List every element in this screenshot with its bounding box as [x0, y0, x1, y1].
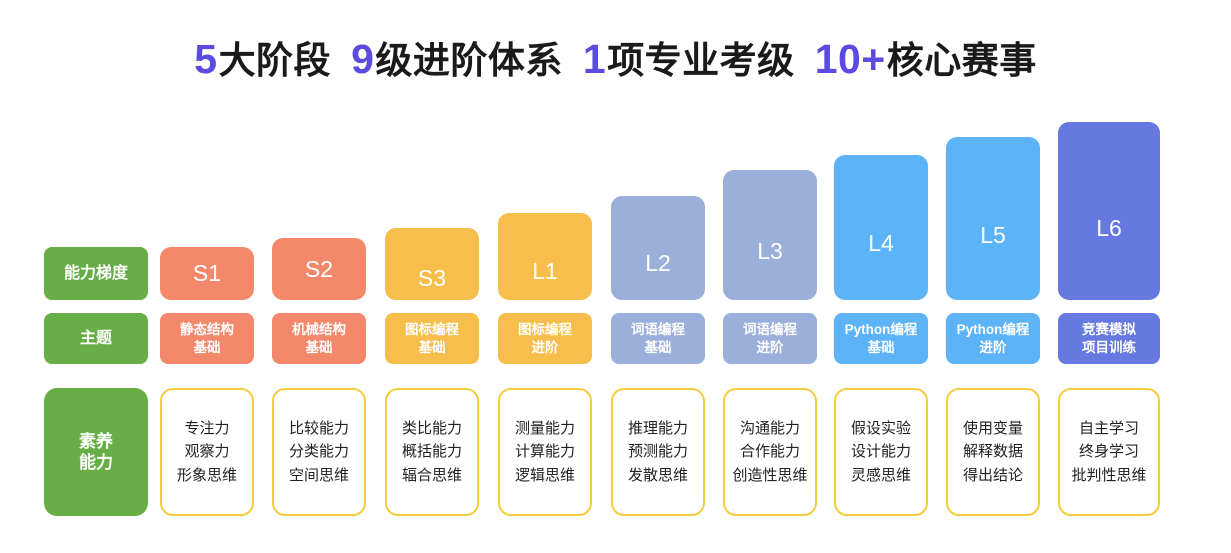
row-label-literacy-ability: 素养 能力 [44, 388, 148, 516]
level-bar-l3[interactable]: L3 [723, 170, 817, 300]
level-bar-s1[interactable]: S1 [160, 247, 254, 300]
literacy-card-s1[interactable]: 专注力 观察力 形象思维 [160, 388, 254, 516]
level-bar-label: S2 [305, 256, 333, 283]
level-bar-label: S3 [418, 265, 446, 292]
level-bar-l2[interactable]: L2 [611, 196, 705, 300]
capability-ladder-board: 能力梯度 主题 素养 能力 S1S2S3L1L2L3L4L5L6 静态结构 基础… [0, 0, 1231, 553]
theme-chip-l5[interactable]: Python编程 进阶 [946, 313, 1040, 364]
theme-chip-l1[interactable]: 图标编程 进阶 [498, 313, 592, 364]
theme-chip-s1[interactable]: 静态结构 基础 [160, 313, 254, 364]
level-bar-label: L2 [645, 250, 671, 277]
level-bar-label: L1 [532, 258, 558, 285]
theme-chip-s3[interactable]: 图标编程 基础 [385, 313, 479, 364]
literacy-card-l6[interactable]: 自主学习 终身学习 批判性思维 [1058, 388, 1160, 516]
level-bar-s3[interactable]: S3 [385, 228, 479, 300]
level-bar-label: L4 [868, 230, 894, 257]
literacy-card-s3[interactable]: 类比能力 概括能力 辐合思维 [385, 388, 479, 516]
level-bar-label: S1 [193, 260, 221, 287]
theme-chip-l2[interactable]: 词语编程 基础 [611, 313, 705, 364]
literacy-card-l5[interactable]: 使用变量 解释数据 得出结论 [946, 388, 1040, 516]
literacy-card-l3[interactable]: 沟通能力 合作能力 创造性思维 [723, 388, 817, 516]
literacy-card-s2[interactable]: 比较能力 分类能力 空间思维 [272, 388, 366, 516]
level-bar-label: L6 [1096, 215, 1122, 242]
level-bar-label: L5 [980, 222, 1006, 249]
theme-chip-l4[interactable]: Python编程 基础 [834, 313, 928, 364]
row-label-capability-gradient: 能力梯度 [44, 247, 148, 300]
level-bar-l1[interactable]: L1 [498, 213, 592, 300]
theme-chip-s2[interactable]: 机械结构 基础 [272, 313, 366, 364]
row-label-theme: 主题 [44, 313, 148, 364]
theme-chip-l3[interactable]: 词语编程 进阶 [723, 313, 817, 364]
literacy-card-l2[interactable]: 推理能力 预测能力 发散思维 [611, 388, 705, 516]
level-bar-s2[interactable]: S2 [272, 238, 366, 300]
literacy-card-l4[interactable]: 假设实验 设计能力 灵感思维 [834, 388, 928, 516]
literacy-card-l1[interactable]: 测量能力 计算能力 逻辑思维 [498, 388, 592, 516]
level-bar-l4[interactable]: L4 [834, 155, 928, 300]
level-bar-l5[interactable]: L5 [946, 137, 1040, 300]
level-bar-l6[interactable]: L6 [1058, 122, 1160, 300]
level-bar-label: L3 [757, 238, 783, 265]
theme-chip-l6[interactable]: 竞赛模拟 项目训练 [1058, 313, 1160, 364]
